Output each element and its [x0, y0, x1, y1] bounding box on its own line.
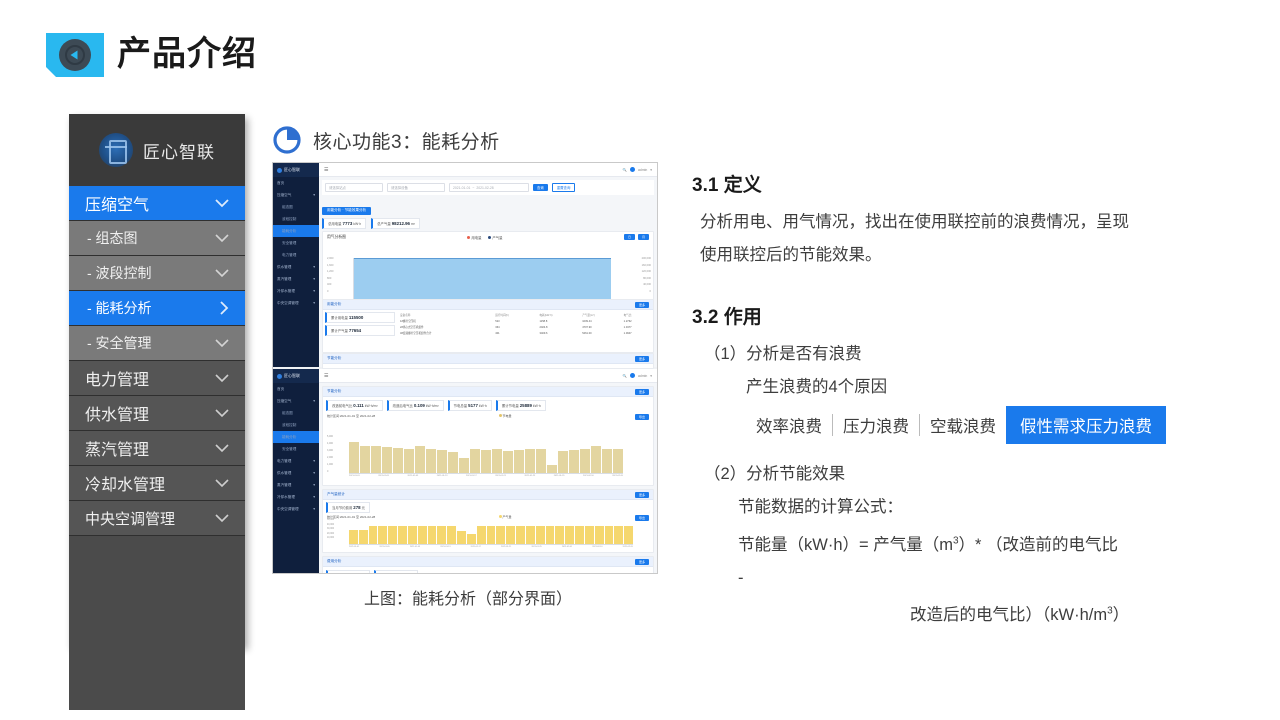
bar: [585, 526, 594, 544]
bar: [525, 449, 535, 473]
panel-gas-statistics: 产气量统计 更多 当月节约费用 278 元 统计区间:2021-01-01 至 …: [322, 489, 654, 553]
user-name: admin: [638, 374, 647, 378]
sidebar-item-label: - 能耗分析: [87, 298, 152, 318]
app-topbar: ☰ 🔍 admin ▾: [319, 369, 657, 383]
cause-pressure-waste[interactable]: 压力浪费: [833, 407, 919, 443]
panel-energy-analysis: 用能分析 更多 累计用电量 115500 累计产气量 77654: [322, 299, 654, 353]
export-button[interactable]: 导出: [635, 414, 649, 420]
chevron-down-icon: ▾: [313, 277, 315, 281]
chevron-down-icon: ▾: [313, 495, 315, 499]
date-from: 2021-01-01: [453, 186, 470, 190]
app-sidebar-bottom: 匠心智联 首页 压缩空气▾ 组态图 波段控制 能耗分析 安全管理 电力管理▾ 供…: [273, 369, 319, 574]
panel-title: 产气量统计: [327, 492, 345, 497]
app-brand-row: 匠心智联: [273, 369, 319, 383]
kpi-total-gas: 总产气量 98212.96 m³: [371, 218, 420, 229]
app-nav-item[interactable]: 蒸汽管理▾: [273, 273, 319, 285]
app-nav-item[interactable]: 安全管理: [273, 443, 319, 455]
app-nav-label: 能耗分析: [282, 435, 296, 440]
app-nav-label: 冷却水管理: [277, 495, 295, 500]
bar: [426, 449, 436, 473]
kpi-unit: m³: [411, 222, 415, 226]
y-tick-labels: 5,0004,0003,0002,0001,0000: [327, 433, 333, 475]
kpi-label: 总产气量: [377, 222, 391, 226]
kpi-card: 累计节电量 25889 kW·h: [496, 400, 546, 411]
app-nav-item[interactable]: 冷却水管理▾: [273, 285, 319, 297]
panel-saving-analysis-detail: 节能分析 更多 改造前电气比 0.111 kW·h/m³ 改造后电气比 0.10…: [322, 386, 654, 486]
middle-column: 核心功能3：能耗分析 匠心智联 首页 压缩空气▾ 组态图 波段控制 能耗分析 安…: [272, 118, 664, 609]
x-tick-labels: 2021-01-012021-01-052021-01-092021-01-13…: [349, 475, 623, 477]
bar: [447, 526, 456, 544]
axis-x: [349, 544, 633, 545]
app-nav-item[interactable]: 压缩空气▾: [273, 395, 319, 407]
panel-saving-analysis: 节能分析 更多: [322, 353, 654, 369]
table-row: 3#变频螺杆空压机组件合计 401 3409.6 5461.00 1.0947: [399, 330, 651, 336]
kpi-value: 0.111: [353, 403, 364, 408]
purpose-item-1: （1）分析是否有浪费: [704, 338, 1252, 371]
page-header: 产品介绍: [0, 0, 1280, 100]
app-nav-item[interactable]: 电力管理: [273, 249, 319, 261]
cell: 3409.6: [539, 330, 582, 336]
chevron-down-icon[interactable]: [213, 337, 231, 349]
sidebar-item-energy-analysis[interactable]: - 能耗分析: [69, 291, 245, 326]
kpi-unit: kW·h: [479, 404, 487, 408]
axis-x: [349, 473, 623, 474]
app-nav-item-selected[interactable]: 能耗分析: [273, 431, 319, 443]
sidebar-item-label: - 波段控制: [87, 263, 152, 283]
bar: [393, 448, 403, 473]
chevron-down-icon: ▾: [313, 459, 315, 463]
kpi-card: 当月节约费用 278 元: [326, 502, 370, 513]
bar: [437, 526, 446, 544]
chart-btn-day[interactable]: 日: [624, 234, 635, 240]
legend-dot: [488, 236, 491, 239]
sidebar-item-label: 冷却水管理: [85, 471, 165, 495]
sidebar-item-band-control[interactable]: - 波段控制: [69, 256, 245, 291]
panel-title: 节能分析: [327, 356, 341, 361]
sidebar-item-label: 电力管理: [85, 366, 149, 390]
app-content-bottom: ☰ 🔍 admin ▾ 节能分析 更多 改造前电气比 0.111: [319, 369, 657, 574]
play-triangle-icon: [59, 39, 91, 71]
kpi-label: 总用电量: [328, 222, 342, 226]
date-range-input[interactable]: 2021-01-01 ~ 2021-02-28: [449, 183, 529, 192]
bar: [388, 526, 397, 544]
bar: [613, 449, 623, 473]
bar-series-saving: [349, 435, 623, 473]
header-badge: [46, 33, 104, 77]
app-nav-label: 中央空调管理: [277, 301, 299, 306]
panel-title: 费用分析: [327, 559, 341, 564]
heading-definition: 3.1 定义: [692, 170, 1252, 197]
sidebar-item-label: 中央空调管理: [85, 508, 175, 529]
user-name: admin: [638, 168, 647, 172]
chevron-down-icon[interactable]: [213, 267, 231, 279]
purpose-item-2-sub: 节能数据的计算公式：: [738, 491, 1252, 524]
app-nav-label: 安全管理: [282, 447, 296, 452]
cause-false-demand-pressure-waste[interactable]: 假性需求压力浪费: [1006, 406, 1166, 444]
app-nav-item[interactable]: 供水管理▾: [273, 261, 319, 273]
sidebar-item-power-management[interactable]: 电力管理: [69, 361, 245, 396]
chevron-down-icon[interactable]: [213, 197, 231, 209]
bar: [467, 534, 476, 544]
avatar[interactable]: [630, 373, 635, 378]
kpi-card: 改造后电气比 0.109 kW·h/m³: [387, 400, 444, 411]
sidebar-item-safety-management[interactable]: - 安全管理: [69, 326, 245, 361]
app-nav-item[interactable]: 压缩空气▾: [273, 189, 319, 201]
section-heading: 核心功能3：能耗分析: [272, 118, 664, 162]
pie-chart-icon: [272, 125, 302, 155]
bar: [415, 446, 425, 473]
app-nav-label: 压缩空气: [277, 399, 291, 404]
cell: 401: [494, 330, 538, 336]
app-nav-label: 蒸汽管理: [277, 483, 291, 488]
app-nav-item[interactable]: 波段控制: [273, 213, 319, 225]
cause-efficiency-waste[interactable]: 效率浪费: [746, 407, 832, 443]
kpi-card: 改造前电气比 0.111 kW·h/m³: [326, 400, 383, 411]
kpi-unit: 元: [362, 506, 365, 510]
app-filter-bar: 请选择站点 请选择设备 2021-01-01 ~ 2021-02-28 查询 重…: [322, 180, 654, 195]
app-nav-label: 安全管理: [282, 241, 296, 246]
app-sidebar-top: 匠心智联 首页 压缩空气▾ 组态图 波段控制 能耗分析 安全管理 电力管理 供水…: [273, 163, 319, 367]
sidebar-item-cooling-water-management[interactable]: 冷却水管理: [69, 466, 245, 501]
bar: [565, 526, 574, 544]
sidebar-item-water-supply-management[interactable]: 供水管理: [69, 396, 245, 431]
bar: [459, 458, 469, 473]
formula-line-2: 改造后的电气比）（kW·h/m3）: [910, 595, 1252, 633]
purpose-item-1-sub: 产生浪费的4个原因: [746, 371, 1252, 404]
definition-line-2: 使用联控后的节能效果。: [700, 239, 1252, 272]
kpi-value: 5177: [394, 573, 404, 574]
cause-idle-waste[interactable]: 空载浪费: [920, 407, 1006, 443]
search-button[interactable]: 查询: [533, 184, 548, 191]
app-nav-label: 供水管理: [277, 265, 291, 270]
chevron-down-icon: ▾: [313, 399, 315, 403]
bar: [369, 526, 378, 544]
chevron-down-icon[interactable]: [213, 477, 231, 489]
panel-header: 节能分析 更多: [323, 354, 653, 364]
app-nav-label: 首页: [277, 387, 284, 392]
app-nav-item[interactable]: 供水管理▾: [273, 467, 319, 479]
bar: [418, 526, 427, 544]
sidebar-item-steam-management[interactable]: 蒸汽管理: [69, 431, 245, 466]
app-nav-label: 电力管理: [282, 253, 296, 258]
bar-series-gas: [349, 520, 633, 544]
section-heading-label: 核心功能3：能耗分析: [313, 127, 500, 154]
energy-table: 设备名称 运行时间(h) 电耗(kW·h) 产气量(m³) 电气比 1#螺杆空压…: [399, 312, 651, 336]
formula-text: 节能量（kW·h）= 产气量（m3）* （改造前的电气比: [738, 536, 1118, 554]
app-nav-item-selected[interactable]: 能耗分析: [273, 225, 319, 237]
kpi-label: 累计产气量: [331, 329, 348, 333]
kpi-label: 改造后电气比: [393, 404, 413, 408]
kpi-label: 累计节电量: [502, 404, 519, 408]
kpi-value: 115500: [349, 315, 363, 320]
search-icon[interactable]: 🔍: [623, 374, 627, 378]
bar: [605, 526, 614, 544]
device-select[interactable]: 请选择设备: [387, 183, 445, 192]
more-button[interactable]: 更多: [635, 492, 649, 498]
app-nav-item[interactable]: 首页: [273, 177, 319, 189]
bar: [555, 526, 564, 544]
more-button[interactable]: 更多: [635, 302, 649, 308]
heading-purpose: 3.2 作用: [692, 302, 1252, 329]
bar: [546, 526, 555, 544]
panel-header: 费用分析 更多: [323, 557, 653, 567]
kpi-total-power: 总用电量 7773 kW·h: [322, 218, 366, 229]
app-brand-label: 匠心智联: [284, 373, 300, 379]
y-tick-labels: 50,00040,00030,00020,00010,000: [327, 518, 334, 541]
page-title: 产品介绍: [117, 30, 257, 78]
chevron-down-icon: ▾: [313, 289, 315, 293]
bar: [558, 451, 568, 473]
app-nav-item[interactable]: 中央空调管理▾: [273, 503, 319, 515]
kpi-unit: kW·h: [353, 222, 361, 226]
more-button[interactable]: 更多: [635, 356, 649, 362]
app-nav-item[interactable]: 波段控制: [273, 419, 319, 431]
bar: [404, 449, 414, 473]
chevron-down-icon[interactable]: [213, 372, 231, 384]
kpi-value: 77654: [349, 328, 361, 333]
cell: 3#变频螺杆空压机组件合计: [399, 330, 494, 336]
bar: [526, 526, 535, 544]
legend-dot: [499, 414, 502, 417]
app-nav-item[interactable]: 首页: [273, 383, 319, 395]
legend-dot: [499, 515, 502, 518]
app-nav-item[interactable]: 蒸汽管理▾: [273, 479, 319, 491]
bar: [496, 526, 505, 544]
chevron-down-icon: ▾: [313, 193, 315, 197]
kpi-value: 278: [353, 573, 360, 574]
bar: [514, 450, 524, 473]
bar: [378, 526, 387, 544]
app-brand-label: 匠心智联: [284, 167, 300, 173]
sidebar-item-central-ac-management[interactable]: 中央空调管理: [69, 501, 245, 536]
app-nav-label: 中央空调管理: [277, 507, 299, 512]
app-nav-item[interactable]: 组态图: [273, 407, 319, 419]
x-tick-labels: 2021-01-012021-01-052021-01-092021-01-13…: [349, 546, 633, 548]
panel-title: 节能分析: [327, 389, 341, 394]
bar: [602, 449, 612, 473]
panel-header: 节能分析 更多: [323, 387, 653, 397]
kpi-card: 累计产气量 77654: [325, 325, 395, 336]
chevron-down-icon: ▾: [313, 301, 315, 305]
app-nav-label: 电力管理: [277, 459, 291, 464]
app-nav-label: 压缩空气: [277, 193, 291, 198]
cell: 1.0947: [623, 330, 651, 336]
app-nav-label: 冷却水管理: [277, 289, 295, 294]
chevron-down-icon: ▾: [313, 483, 315, 487]
kpi-value: 25889: [520, 403, 532, 408]
app-nav-label: 波段控制: [282, 423, 296, 428]
bar: [614, 526, 623, 544]
kpi-value: 0.109: [414, 403, 425, 408]
bar: [591, 446, 601, 473]
chevron-down-icon[interactable]: ▾: [650, 168, 652, 172]
legend-dot: [467, 236, 470, 239]
embedded-app-screenshot[interactable]: 匠心智联 首页 压缩空气▾ 组态图 波段控制 能耗分析 安全管理 电力管理 供水…: [272, 162, 658, 574]
kpi-label: 当月节约费用: [332, 506, 352, 510]
nav-brand-label: 匠心智联: [143, 138, 215, 163]
chart-title: 用气分析图: [327, 235, 346, 240]
sidebar-item-compressed-air[interactable]: 压缩空气: [69, 186, 245, 221]
app-nav-label: 波段控制: [282, 217, 296, 222]
bar: [536, 526, 545, 544]
formula-dash: -: [738, 562, 1252, 595]
bar: [595, 526, 604, 544]
kpi-card: 当月节约费用 278 元: [326, 570, 370, 574]
kpi-card: 节电总量 5177 kW·h: [374, 570, 418, 574]
y-tick-labels: 2,0001,6001,2008004000: [327, 256, 334, 295]
panel-header: 产气量统计 更多: [323, 490, 653, 500]
more-button[interactable]: 更多: [635, 559, 649, 565]
bar: [487, 526, 496, 544]
reset-button[interactable]: 重置查询: [552, 183, 576, 192]
bar: [382, 447, 392, 473]
kpi-unit: kW·h/m³: [426, 404, 439, 408]
bar: [360, 446, 370, 473]
brand-logo-icon: [99, 133, 133, 167]
app-nav-label: 蒸汽管理: [277, 277, 291, 282]
bar: [470, 449, 480, 473]
kpi-label: 改造前电气比: [332, 404, 352, 408]
purpose-item-2: （2）分析节能效果: [704, 458, 1252, 491]
formula-text: 改造后的电气比）（kW·h/m3）: [910, 606, 1129, 624]
chevron-down-icon: ▾: [313, 265, 315, 269]
bar: [624, 526, 633, 544]
legend-label: 节电量: [503, 414, 512, 418]
sidebar-item-label: 压缩空气: [85, 191, 149, 215]
panel-title: 用能分析: [327, 302, 341, 307]
app-nav-label: 供水管理: [277, 471, 291, 476]
waste-cause-list: 效率浪费 压力浪费 空载浪费 假性需求压力浪费: [746, 406, 1252, 444]
kpi-value: 278: [353, 505, 360, 510]
export-button[interactable]: 导出: [635, 515, 649, 521]
panel-header: 用能分析 更多: [323, 300, 653, 310]
more-button[interactable]: 更多: [635, 389, 649, 395]
legend-label: 用电量: [471, 236, 481, 240]
chart-btn-month[interactable]: 月: [638, 234, 649, 240]
chevron-down-icon[interactable]: [213, 512, 231, 524]
chevron-down-icon: ▾: [313, 507, 315, 511]
app-nav-item[interactable]: 中央空调管理▾: [273, 297, 319, 309]
bar: [437, 450, 447, 473]
app-topbar: ☰ 🔍 admin ▾: [319, 163, 657, 177]
cell: 5461.00: [581, 330, 622, 336]
bar: [428, 526, 437, 544]
nav-brand: 匠心智联: [69, 114, 245, 186]
sidebar-item-label: 蒸汽管理: [85, 436, 149, 460]
y2-tick-labels: 200,000160,000120,00080,00040,0000: [642, 256, 651, 295]
kpi-value: 7773: [343, 221, 353, 226]
kpi-value: 5177: [468, 403, 478, 408]
app-content-top: ☰ 🔍 admin ▾ 请选择站点 请选择设备 2021-01-01 ~ 202…: [319, 163, 657, 367]
bar: [580, 449, 590, 473]
app-logo-icon: [277, 374, 282, 379]
kpi-card: 累计用电量 115500: [325, 312, 395, 323]
chevron-down-icon[interactable]: ▾: [650, 374, 652, 378]
kpi-unit: kW·h/m³: [365, 404, 378, 408]
chevron-down-icon: ▾: [313, 471, 315, 475]
bar: [547, 465, 557, 473]
sidebar-item-label: - 安全管理: [87, 333, 152, 353]
app-nav-label: 组态图: [282, 411, 293, 416]
site-select[interactable]: 请选择站点: [325, 183, 383, 192]
app-nav-label: 首页: [277, 181, 284, 186]
kpi-card: 节电总量 5177 kW·h: [448, 400, 492, 411]
bar: [516, 526, 525, 544]
app-nav-item[interactable]: 电力管理▾: [273, 455, 319, 467]
chevron-down-icon[interactable]: [213, 407, 231, 419]
formula-line-1: 节能量（kW·h）= 产气量（m3）* （改造前的电气比: [738, 524, 1252, 562]
app-nav-label: 能耗分析: [282, 229, 296, 234]
sidebar-item-configuration-diagram[interactable]: - 组态图: [69, 221, 245, 256]
kpi-unit: kW·h: [533, 404, 541, 408]
chart-range-label: 统计区间:2021-01-01 至 2021-02-28: [327, 414, 375, 420]
hamburger-icon[interactable]: ☰: [324, 373, 328, 379]
bar: [359, 530, 368, 544]
app-nav-item[interactable]: 组态图: [273, 201, 319, 213]
bar: [536, 449, 546, 473]
bar: [477, 526, 486, 544]
app-nav-item[interactable]: 安全管理: [273, 237, 319, 249]
tab-energy-analysis[interactable]: 用能分析 · 节能效果分析: [322, 207, 371, 215]
app-brand-row: 匠心智联: [273, 163, 319, 177]
bar: [408, 526, 417, 544]
kpi-label: 节电总量: [454, 404, 468, 408]
sidebar-item-label: 供水管理: [85, 401, 149, 425]
legend-label: 产气量: [503, 515, 512, 519]
hamburger-icon[interactable]: ☰: [324, 167, 328, 173]
bar: [503, 451, 513, 473]
date-to: 2021-02-28: [476, 186, 493, 190]
bar: [506, 526, 515, 544]
kpi-value: 98212.96: [392, 221, 410, 226]
kpi-label: 累计用电量: [331, 316, 348, 320]
bar: [398, 526, 407, 544]
app-nav-label: 组态图: [282, 205, 293, 210]
sidebar-item-label: - 组态图: [87, 228, 138, 248]
bar: [492, 449, 502, 473]
bar: [349, 530, 358, 544]
avatar[interactable]: [630, 167, 635, 172]
app-logo-icon: [277, 168, 282, 173]
bar: [575, 526, 584, 544]
chevron-down-icon[interactable]: [213, 232, 231, 244]
chevron-down-icon[interactable]: [213, 442, 231, 454]
search-icon[interactable]: 🔍: [623, 168, 627, 172]
screenshot-caption: 上图：能耗分析（部分界面）: [272, 585, 664, 609]
bar: [569, 450, 579, 473]
legend-label: 产气量: [492, 236, 502, 240]
bar: [371, 446, 381, 473]
nav-empty-space: [69, 536, 245, 710]
bar: [457, 531, 466, 544]
definition-line-1: 分析用电、用气情况，找出在使用联控前的浪费情况，呈现: [700, 206, 1252, 239]
panel-cost-analysis: 费用分析 更多 当月节约费用 278 元 节电总量 5177 kW·h: [322, 556, 654, 574]
bar: [481, 450, 491, 473]
app-nav-item[interactable]: 冷却水管理▾: [273, 491, 319, 503]
right-column: 3.1 定义 分析用电、用气情况，找出在使用联控前的浪费情况，呈现 使用联控后的…: [692, 170, 1252, 632]
nav-panel: 匠心智联 压缩空气 - 组态图 - 波段控制 - 能耗分析 - 安全管理 电力管…: [69, 114, 245, 646]
bar: [349, 442, 359, 473]
bar: [448, 452, 458, 473]
chevron-right-icon[interactable]: [217, 299, 231, 317]
